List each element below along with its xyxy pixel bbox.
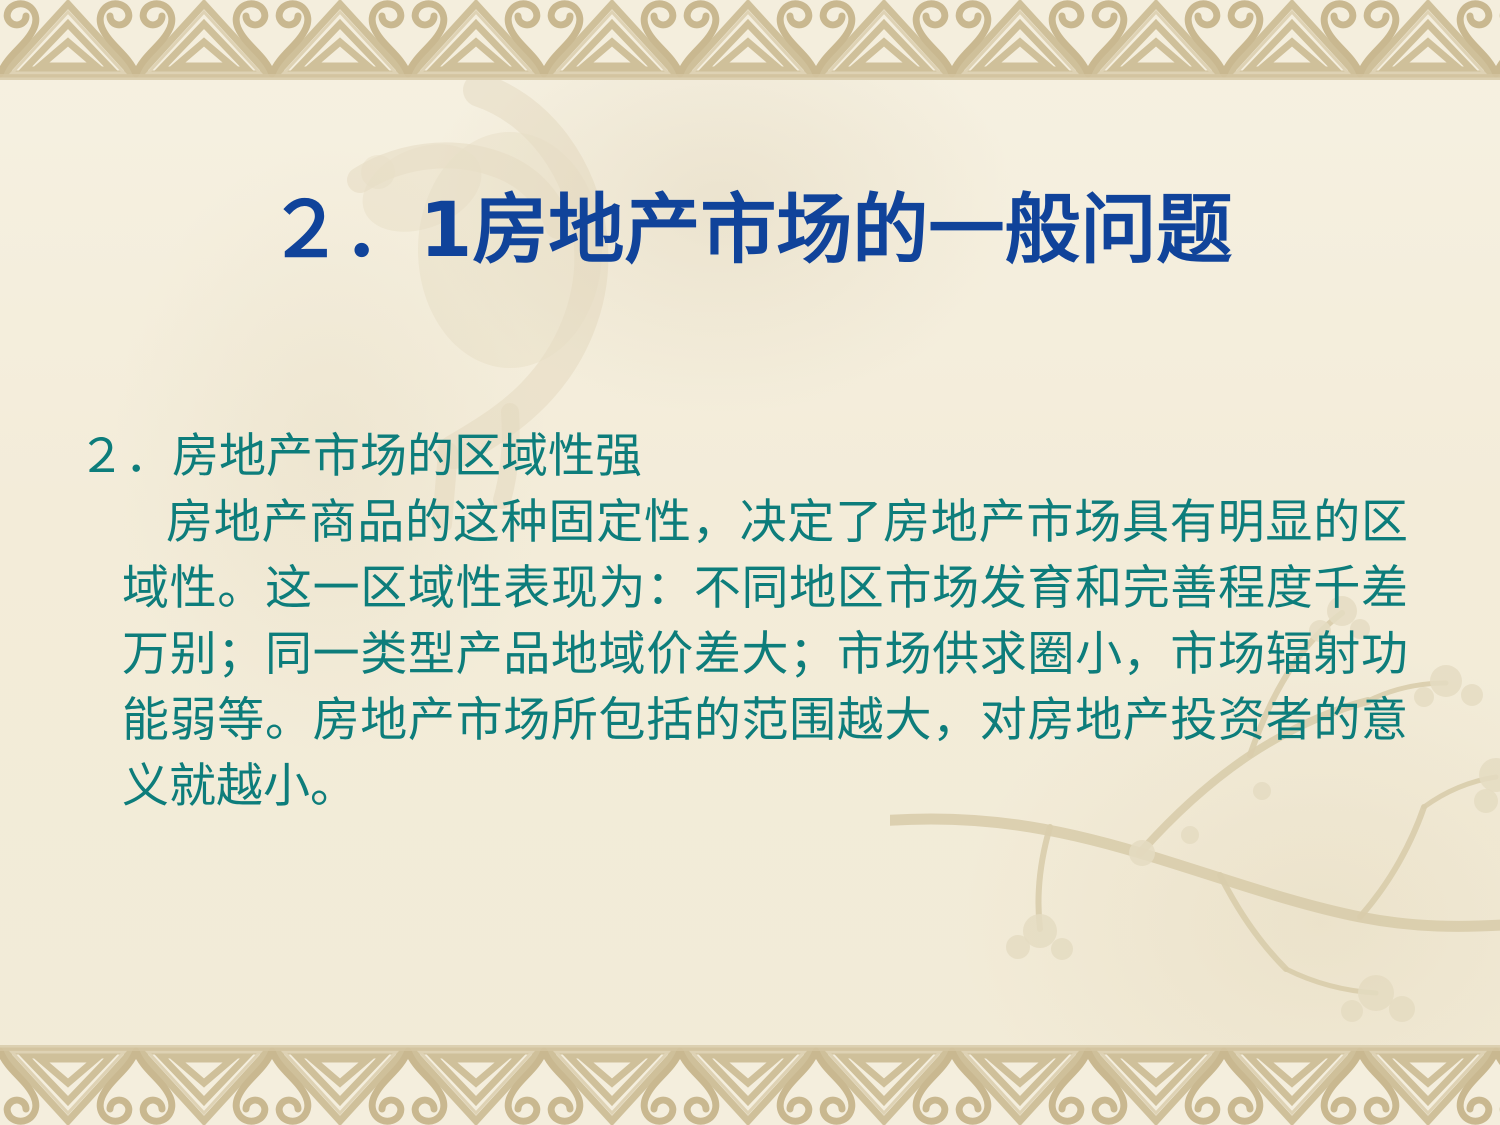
body-paragraph: 房地产商品的这种固定性，决定了房地产市场具有明显的区域性。这一区域性表现为：不同… [78, 490, 1408, 820]
slide-title: ２．1房地产市场的一般问题 [0, 192, 1500, 268]
slide-canvas: ２．1房地产市场的一般问题 ２．房地产市场的区域性强 房地产商品的这种固定性，决… [0, 0, 1500, 1125]
body-sub-heading: ２．房地产市场的区域性强 [78, 424, 1418, 490]
slide-body: ２．房地产市场的区域性强 房地产商品的这种固定性，决定了房地产市场具有明显的区域… [78, 424, 1418, 820]
